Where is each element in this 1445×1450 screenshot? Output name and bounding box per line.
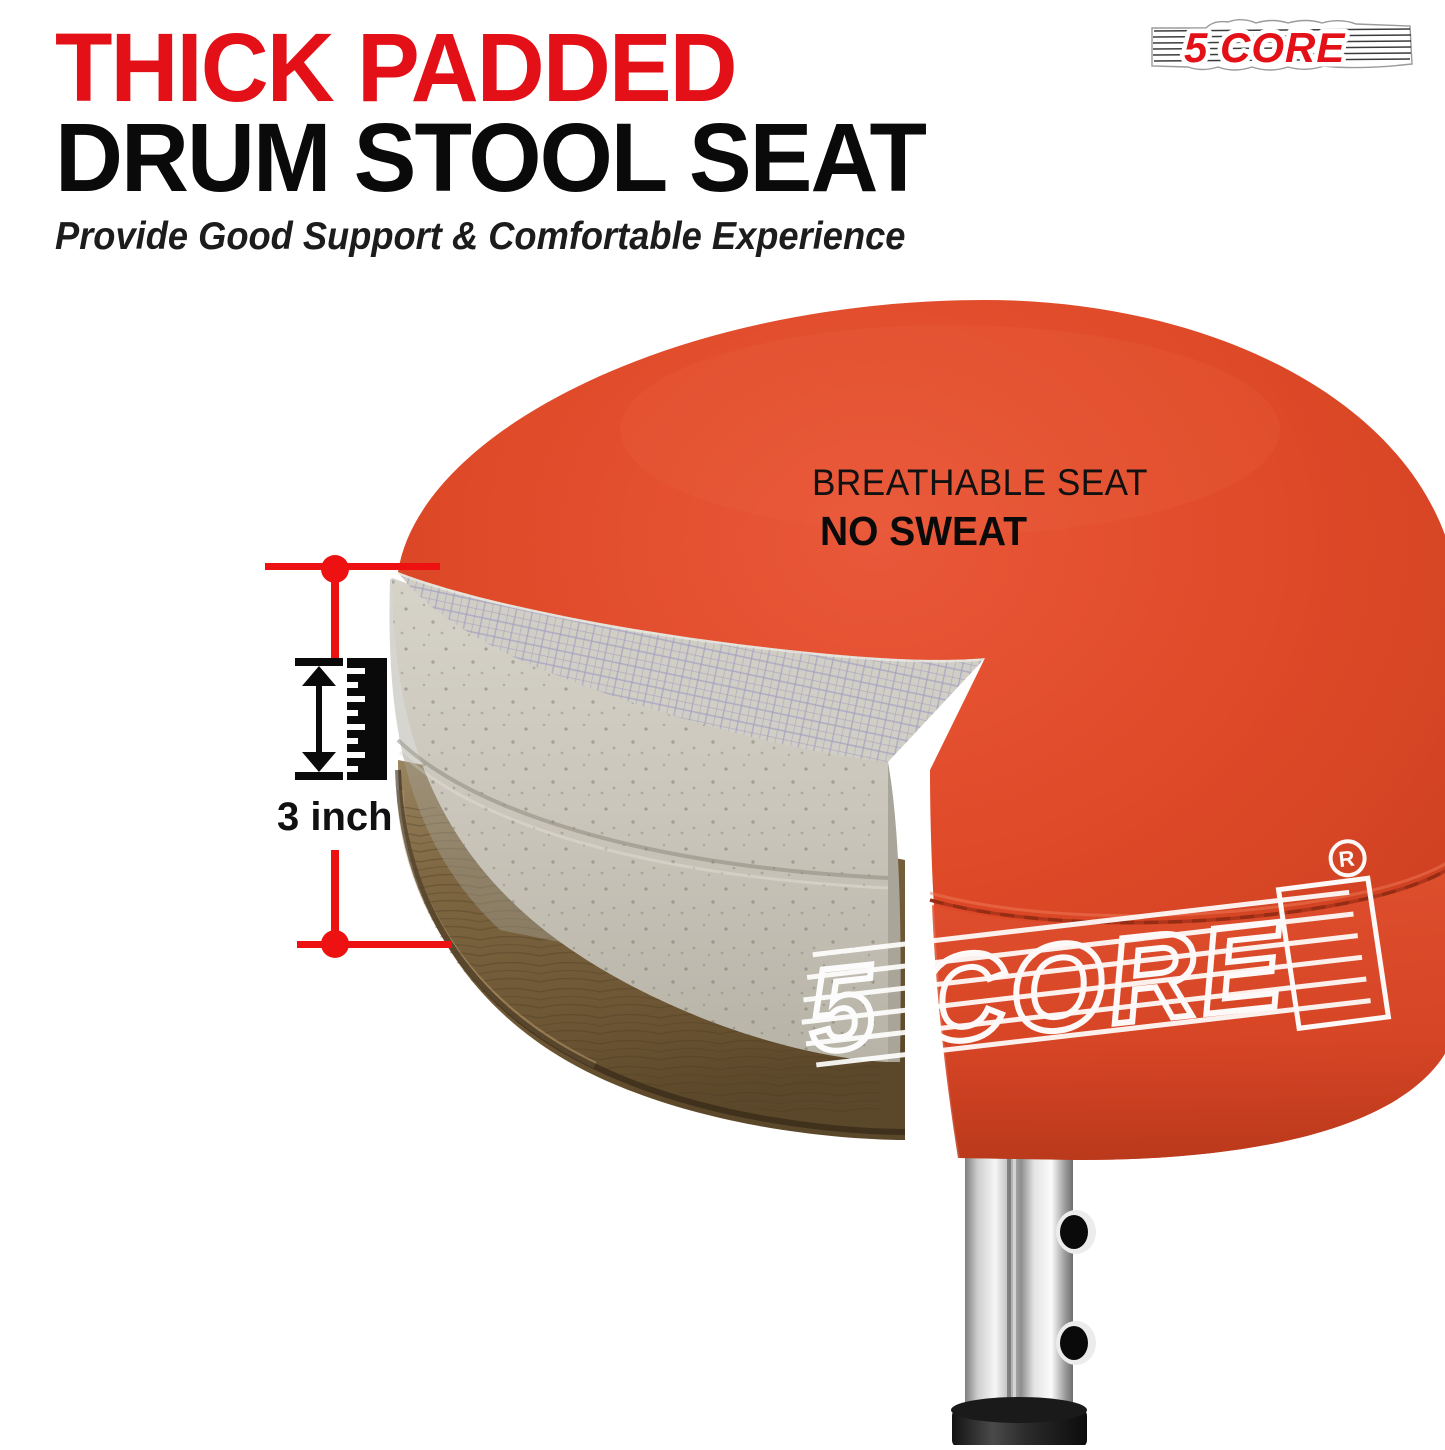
brand-logo-5core: 5 CORE 5 CORE <box>1148 18 1416 74</box>
brand-logo-number: 5 <box>1184 24 1208 71</box>
foam-cut-face <box>888 762 901 1062</box>
dimension-top-line <box>265 563 440 570</box>
header: THICK PADDED DRUM STOOL SEAT Provide Goo… <box>0 0 1445 275</box>
callout-line-breathable: BREATHABLE SEAT <box>812 462 1192 504</box>
dimension-callout: 3 inch <box>255 550 515 970</box>
ruler-icon <box>295 658 387 780</box>
callout-line-nosweat: NO SWEAT <box>820 508 1192 555</box>
dimension-upper-vline <box>331 572 339 664</box>
headline-primary: THICK PADDED <box>55 22 736 114</box>
pole-hole <box>1056 1321 1096 1365</box>
dimension-lower-vline <box>331 850 339 932</box>
pole-hole <box>1056 1210 1096 1254</box>
headline-secondary: DRUM STOOL SEAT <box>55 112 925 204</box>
seat-callout: BREATHABLE SEAT NO SWEAT <box>812 462 1212 555</box>
dimension-bottom-line <box>297 941 452 948</box>
stool-pole <box>951 1155 1096 1445</box>
headline-subtitle: Provide Good Support & Comfortable Exper… <box>55 215 905 259</box>
brand-logo-icon: 5 CORE 5 CORE <box>1148 18 1416 74</box>
svg-text:R: R <box>1337 846 1356 873</box>
brand-logo-word: CORE <box>1220 24 1346 71</box>
dimension-label: 3 inch <box>277 795 393 840</box>
